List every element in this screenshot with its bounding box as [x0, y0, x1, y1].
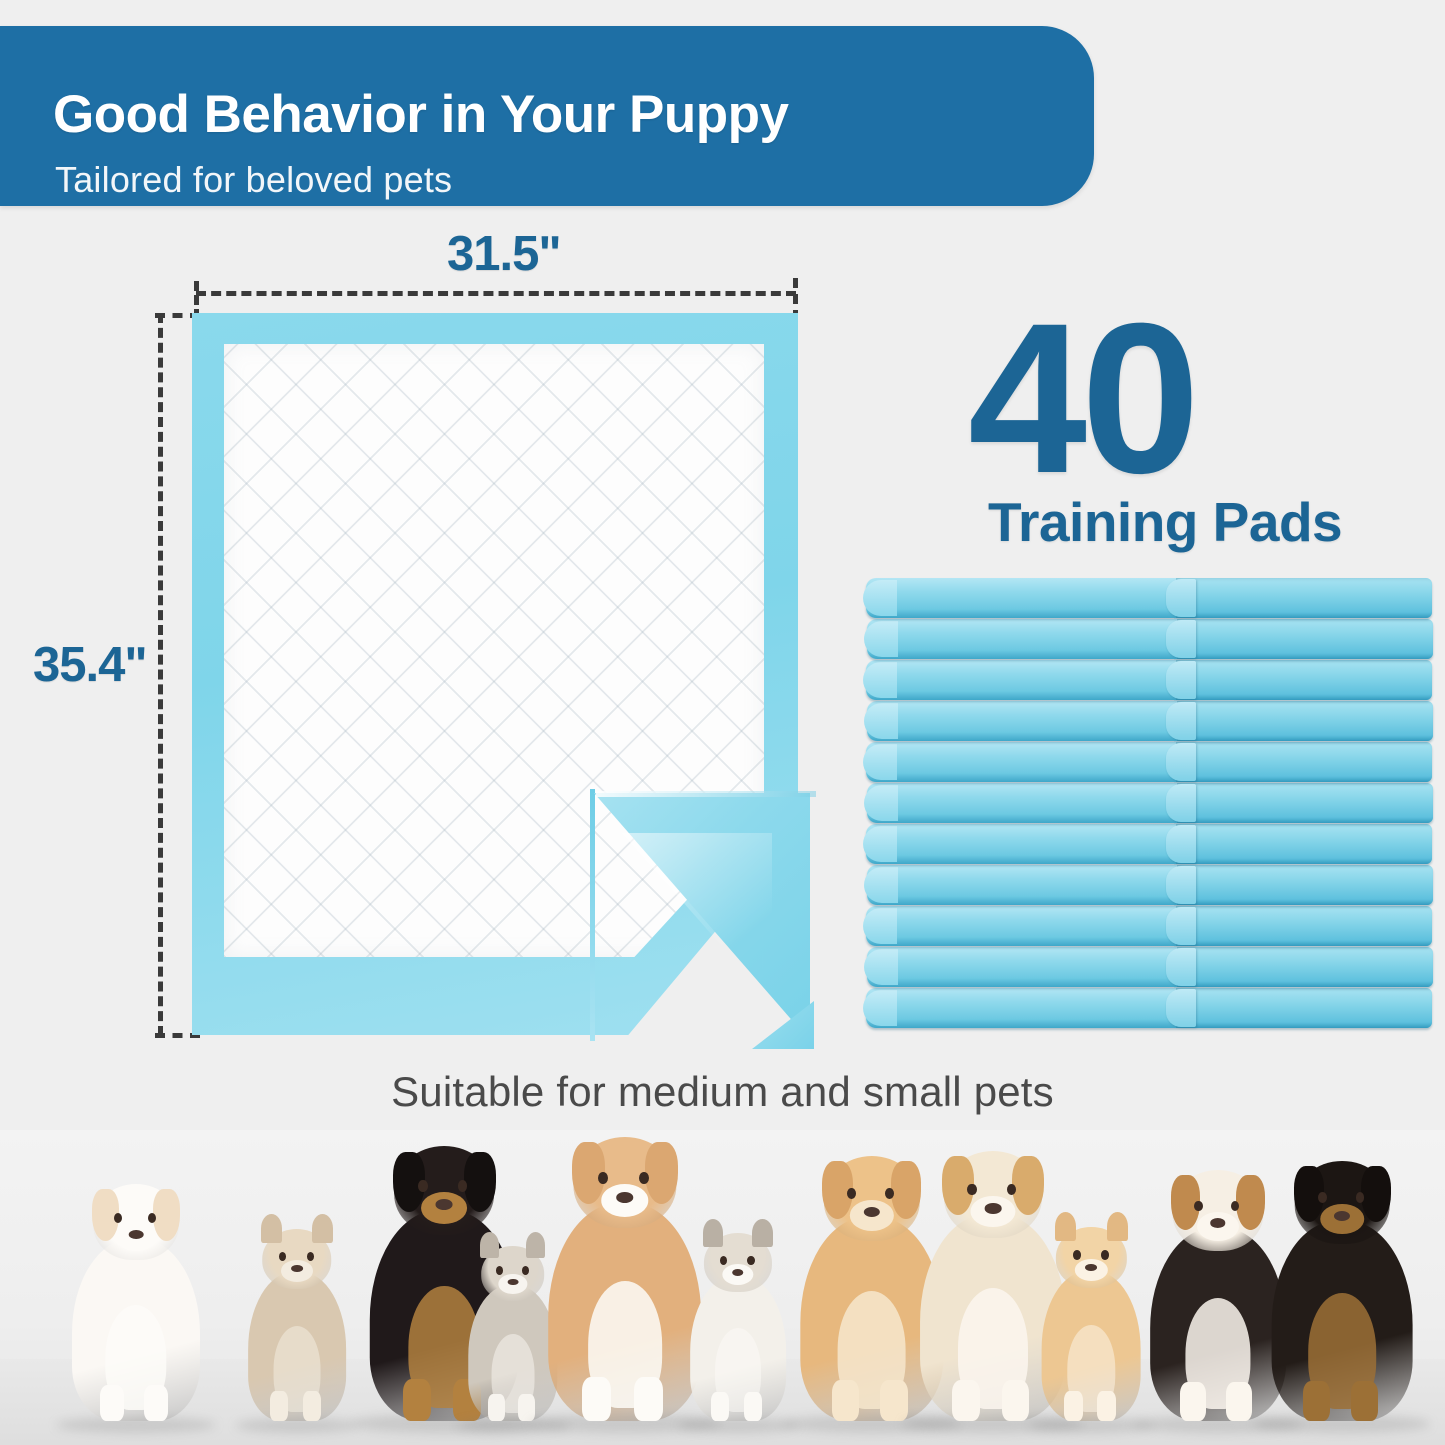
pet-ear-left [261, 1214, 282, 1243]
stack-layer [866, 824, 1432, 864]
pet-leg [832, 1380, 859, 1421]
pet-nose [1210, 1218, 1225, 1228]
pet-beagle-dog [1150, 1170, 1286, 1421]
pet-nose [507, 1279, 518, 1286]
stack-layer [866, 906, 1432, 946]
pad-height-label: 35.4" [33, 637, 147, 693]
pet-eye [1007, 1184, 1016, 1195]
height-dimension-line [158, 313, 163, 1036]
pet-nose [616, 1192, 634, 1203]
pet-nose [732, 1269, 744, 1276]
pad-fold-edge [590, 789, 595, 1041]
stack-layer [867, 865, 1433, 905]
pad-count-label: Training Pads [988, 490, 1342, 554]
pet-leg [270, 1391, 289, 1421]
pet-leg [303, 1391, 322, 1421]
pet-leg [582, 1377, 611, 1421]
stack-fold-notch [1166, 907, 1196, 945]
pet-eye [114, 1213, 122, 1223]
pet-nose [436, 1199, 453, 1210]
pet-ear-left [703, 1219, 723, 1247]
pet-leg [403, 1379, 431, 1421]
pet-eye [1318, 1192, 1327, 1203]
pet-eye [458, 1180, 467, 1192]
stack-fold-notch [1166, 743, 1196, 781]
pet-ear-right [464, 1152, 496, 1212]
pet-ear-right [891, 1161, 922, 1219]
pet-ear-right [1107, 1212, 1128, 1241]
pet-leg [1303, 1381, 1330, 1421]
stack-layer [866, 578, 1432, 618]
pet-eye [1073, 1250, 1081, 1260]
pet-leg [952, 1380, 980, 1421]
stack-layer [866, 988, 1432, 1028]
pet-leg [1002, 1380, 1030, 1421]
pet-nose [129, 1230, 144, 1239]
pet-leg [488, 1394, 505, 1421]
pet-leg [100, 1385, 124, 1421]
pet-white-puppy [72, 1184, 200, 1421]
stack-fold-notch [1166, 989, 1196, 1027]
page-subtitle: Tailored for beloved pets [55, 159, 452, 201]
pet-white-gray-cat [690, 1233, 786, 1421]
pad-count-number: 40 [968, 292, 1194, 506]
stack-layer [866, 742, 1432, 782]
pet-leg [144, 1385, 168, 1421]
pet-eye [418, 1180, 427, 1192]
pet-ear-left [1055, 1212, 1076, 1241]
stack-layer [867, 619, 1433, 659]
page-title: Good Behavior in Your Puppy [53, 84, 788, 145]
pet-leg [634, 1377, 663, 1421]
infographic-canvas: Good Behavior in Your Puppy Tailored for… [0, 0, 1445, 1445]
pet-eye [598, 1172, 608, 1184]
pet-gray-tabby-cat [468, 1246, 557, 1422]
stack-fold-notch [1166, 948, 1196, 986]
pet-ear-right [1236, 1175, 1265, 1230]
pad-width-label: 31.5" [447, 226, 561, 282]
pet-orange-cream-cat [1042, 1227, 1141, 1421]
stack-fold-notch [1166, 579, 1196, 617]
pet-ear-right [312, 1214, 333, 1243]
pet-leg [744, 1392, 762, 1421]
pet-eye [639, 1172, 649, 1184]
pet-leg [1180, 1382, 1206, 1421]
training-pad-stack [866, 578, 1432, 1028]
pet-ear-right [153, 1189, 181, 1241]
pet-leg [1064, 1391, 1083, 1421]
pet-leg [518, 1394, 535, 1421]
pet-nose [291, 1265, 303, 1272]
pet-eye [967, 1184, 976, 1195]
pet-ear-right [752, 1219, 772, 1247]
stack-layer [867, 701, 1433, 741]
pet-ear-right [1012, 1156, 1043, 1215]
pet-eye [496, 1266, 503, 1275]
pet-ear-right [526, 1232, 545, 1258]
pet-eye [1101, 1250, 1109, 1260]
pet-black-tan-rottweiler [1272, 1161, 1413, 1421]
stack-fold-notch [1166, 784, 1196, 822]
pet-eye [522, 1266, 529, 1275]
pet-eye [1194, 1201, 1202, 1212]
stack-layer [867, 783, 1433, 823]
header-banner: Good Behavior in Your Puppy Tailored for… [0, 26, 1094, 206]
stack-fold-notch [1166, 702, 1196, 740]
pet-leg [1351, 1381, 1378, 1421]
stack-fold-notch [1166, 661, 1196, 699]
pet-leg [711, 1392, 729, 1421]
pet-eye [847, 1188, 856, 1199]
stack-fold-notch [1166, 620, 1196, 658]
pet-ear-left [480, 1232, 499, 1258]
stack-fold-notch [1166, 866, 1196, 904]
stack-fold-notch [1166, 825, 1196, 863]
pet-nose [1334, 1211, 1350, 1221]
pets-caption: Suitable for medium and small pets [0, 1068, 1445, 1116]
width-dimension-line [196, 291, 796, 296]
pets-lineup-photo [0, 1130, 1445, 1445]
pet-leg [1097, 1391, 1116, 1421]
pet-leg [880, 1380, 907, 1421]
pet-eye [747, 1256, 754, 1265]
stack-layer [866, 660, 1432, 700]
pad-fold-crease [596, 791, 816, 797]
pet-leg [1226, 1382, 1252, 1421]
stack-layer [867, 947, 1433, 987]
pet-cream-tabby-cat [248, 1229, 346, 1421]
pet-tan-white-dog [548, 1137, 702, 1421]
training-pad-flat [192, 313, 798, 1035]
